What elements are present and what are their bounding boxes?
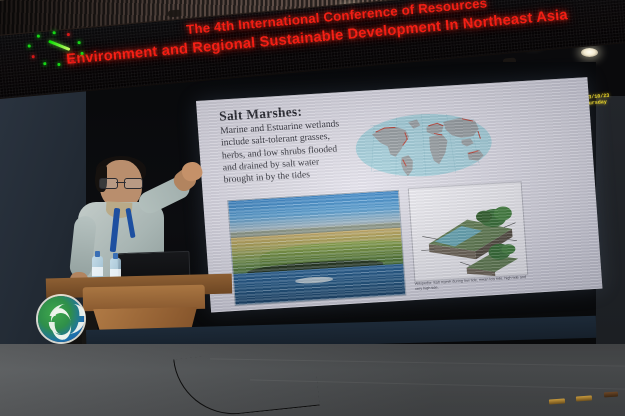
salt-marsh-tidal-zone-diagram	[408, 181, 529, 282]
salt-marsh-photograph	[227, 190, 406, 306]
ceiling-sprinkler	[168, 9, 182, 17]
conference-globe-logo	[38, 296, 84, 342]
led-clock-icon	[23, 28, 94, 68]
presentation-slide: Salt Marshes: Marine and Estuarine wetla…	[196, 77, 602, 312]
projection-screen: Salt Marshes: Marine and Estuarine wetla…	[196, 77, 602, 312]
floor-object	[604, 392, 618, 398]
slide-body-text: Marine and Estuarine wetlands include sa…	[220, 118, 344, 186]
presenter-glasses	[99, 178, 143, 187]
conference-room-photo: The 4th International Conference of Reso…	[0, 0, 625, 416]
recessed-downlight	[581, 48, 598, 57]
world-distribution-map	[352, 105, 495, 185]
